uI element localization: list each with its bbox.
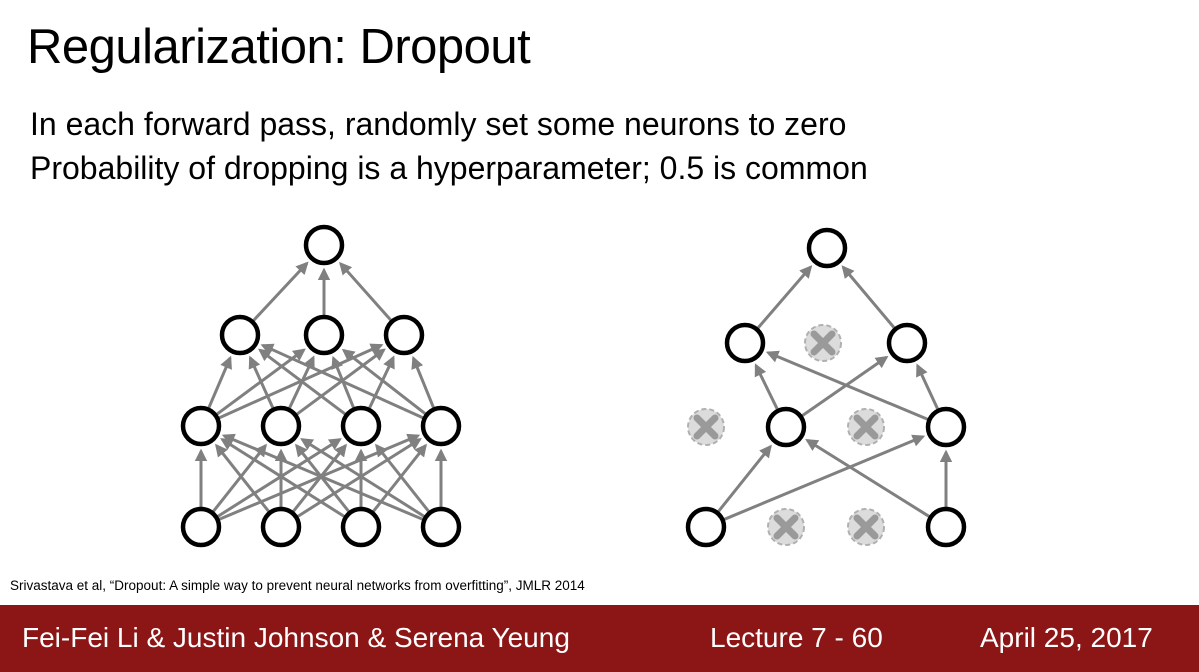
citation-text: Srivastava et al, “Dropout: A simple way… xyxy=(10,578,585,593)
network-edge xyxy=(757,267,810,329)
body-line-1: In each forward pass, randomly set some … xyxy=(30,108,846,140)
slide-canvas: Regularization: Dropout In each forward … xyxy=(0,0,1199,672)
network-edge xyxy=(253,263,307,321)
network-edge xyxy=(208,358,230,409)
footer-lecture-number: Lecture 7 - 60 xyxy=(710,622,883,654)
active-neuron xyxy=(386,317,422,353)
active-neuron xyxy=(306,317,342,353)
dropped-neuron xyxy=(688,409,724,445)
dropped-neuron xyxy=(848,409,884,445)
active-neuron xyxy=(928,509,964,545)
network-edge xyxy=(918,366,938,410)
network-edge xyxy=(341,264,392,321)
active-neuron xyxy=(222,317,258,353)
active-neuron xyxy=(727,325,763,361)
active-neuron xyxy=(928,409,964,445)
network-edge xyxy=(802,357,887,416)
dropped-neuron xyxy=(848,509,884,545)
dropped-neuron xyxy=(805,325,841,361)
diagram-area xyxy=(0,205,1199,575)
active-neuron xyxy=(306,227,342,263)
network-edge xyxy=(413,358,433,408)
footer-authors: Fei-Fei Li & Justin Johnson & Serena Yeu… xyxy=(22,622,570,654)
neural-network-diagrams xyxy=(0,205,1199,575)
active-neuron xyxy=(423,408,459,444)
active-neuron xyxy=(263,408,299,444)
active-neuron xyxy=(768,409,804,445)
active-neuron xyxy=(889,325,925,361)
network-edge xyxy=(756,365,778,409)
footer-bar: Fei-Fei Li & Justin Johnson & Serena Yeu… xyxy=(0,605,1199,672)
page-title: Regularization: Dropout xyxy=(27,22,530,73)
network-edge xyxy=(843,267,895,328)
active-neuron xyxy=(263,509,299,545)
active-neuron xyxy=(423,509,459,545)
active-neuron xyxy=(183,509,219,545)
body-line-2: Probability of dropping is a hyperparame… xyxy=(30,152,868,184)
active-neuron xyxy=(688,509,724,545)
active-neuron xyxy=(183,408,219,444)
active-neuron xyxy=(343,408,379,444)
active-neuron xyxy=(809,230,845,266)
dropped-neuron xyxy=(768,509,804,545)
active-neuron xyxy=(343,509,379,545)
network-edges xyxy=(201,263,946,519)
footer-date: April 25, 2017 xyxy=(980,622,1153,654)
